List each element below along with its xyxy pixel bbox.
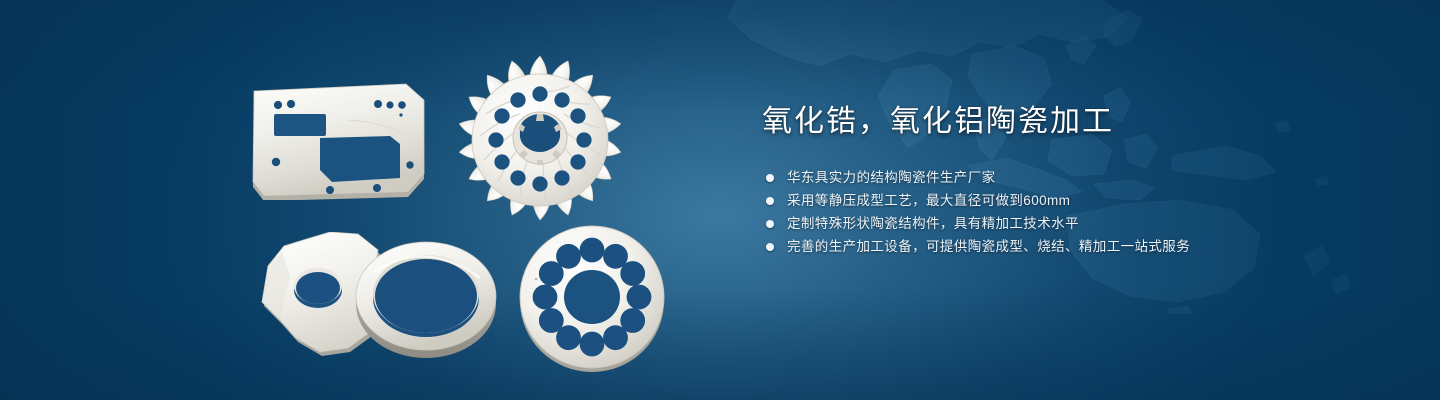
banner-copy: 氧化锆，氧化铝陶瓷加工 华东具实力的结构陶瓷件生产厂家 采用等静压成型工艺，最大… (762, 104, 1402, 258)
ceramic-impeller-part (452, 52, 628, 224)
ceramic-parts-photo-group (0, 0, 740, 400)
bullet-dot-icon (766, 197, 774, 205)
ceramic-perforated-disc-part (516, 222, 668, 372)
list-item-label: 完善的生产加工设备，可提供陶瓷成型、烧结、精加工一站式服务 (787, 240, 1190, 254)
list-item-label: 定制特殊形状陶瓷结构件，具有精加工技术水平 (787, 217, 1079, 231)
list-item: 采用等静压成型工艺，最大直径可做到600mm (766, 189, 1402, 212)
page-title: 氧化锆，氧化铝陶瓷加工 (762, 104, 1402, 140)
list-item: 定制特殊形状陶瓷结构件，具有精加工技术水平 (766, 212, 1402, 235)
bullet-dot-icon (766, 243, 774, 251)
bullet-dot-icon (766, 174, 774, 182)
ceramic-plate-part (248, 78, 438, 200)
feature-list: 华东具实力的结构陶瓷件生产厂家 采用等静压成型工艺，最大直径可做到600mm 定… (766, 166, 1402, 258)
ceramic-ring-part (352, 228, 502, 364)
list-item: 华东具实力的结构陶瓷件生产厂家 (766, 166, 1402, 189)
list-item: 完善的生产加工设备，可提供陶瓷成型、烧结、精加工一站式服务 (766, 235, 1402, 258)
list-item-label: 华东具实力的结构陶瓷件生产厂家 (787, 171, 996, 185)
list-item-label: 采用等静压成型工艺，最大直径可做到600mm (787, 194, 1070, 208)
bullet-dot-icon (766, 220, 774, 228)
product-hero-banner: 氧化锆，氧化铝陶瓷加工 华东具实力的结构陶瓷件生产厂家 采用等静压成型工艺，最大… (0, 0, 1440, 400)
